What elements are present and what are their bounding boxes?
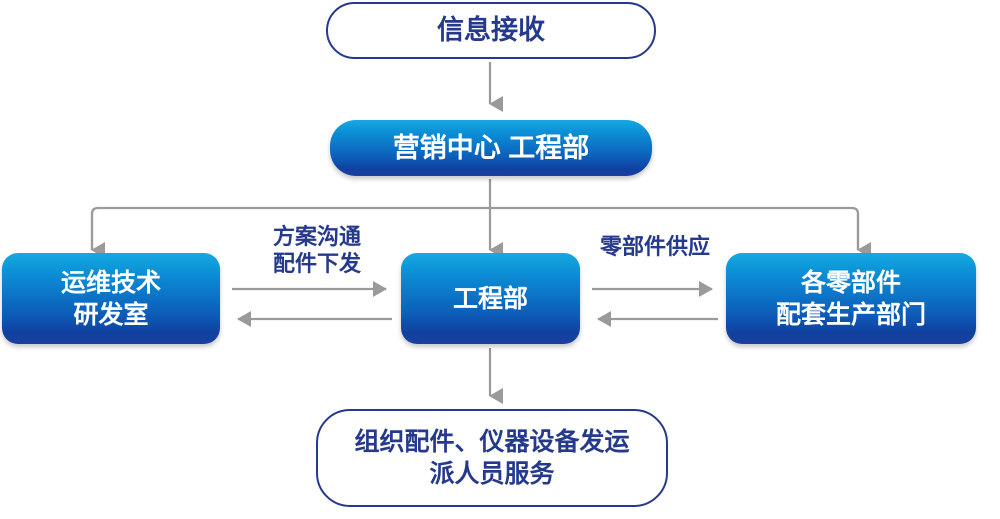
node-marketing-center-engineering-dept[interactable]: 营销中心 工程部 bbox=[330, 120, 652, 176]
flowchart-canvas: 信息接收 营销中心 工程部 运维技术 研发室 工程部 各零部件 配套生产部门 组… bbox=[0, 0, 1000, 519]
node-ops-tech-rd-lab[interactable]: 运维技术 研发室 bbox=[2, 253, 220, 344]
node-organize-parts-shipment-service[interactable]: 组织配件、仪器设备发运 派人员服务 bbox=[316, 409, 668, 507]
edge-label-parts-supply: 零部件供应 bbox=[585, 234, 725, 261]
arrow-center-branch-trunk bbox=[92, 179, 858, 250]
node-engineering-dept[interactable]: 工程部 bbox=[401, 253, 580, 344]
edge-label-plan-communication: 方案沟通 配件下发 bbox=[232, 224, 402, 278]
node-information-reception[interactable]: 信息接收 bbox=[326, 2, 656, 59]
node-component-production-depts[interactable]: 各零部件 配套生产部门 bbox=[726, 253, 976, 344]
